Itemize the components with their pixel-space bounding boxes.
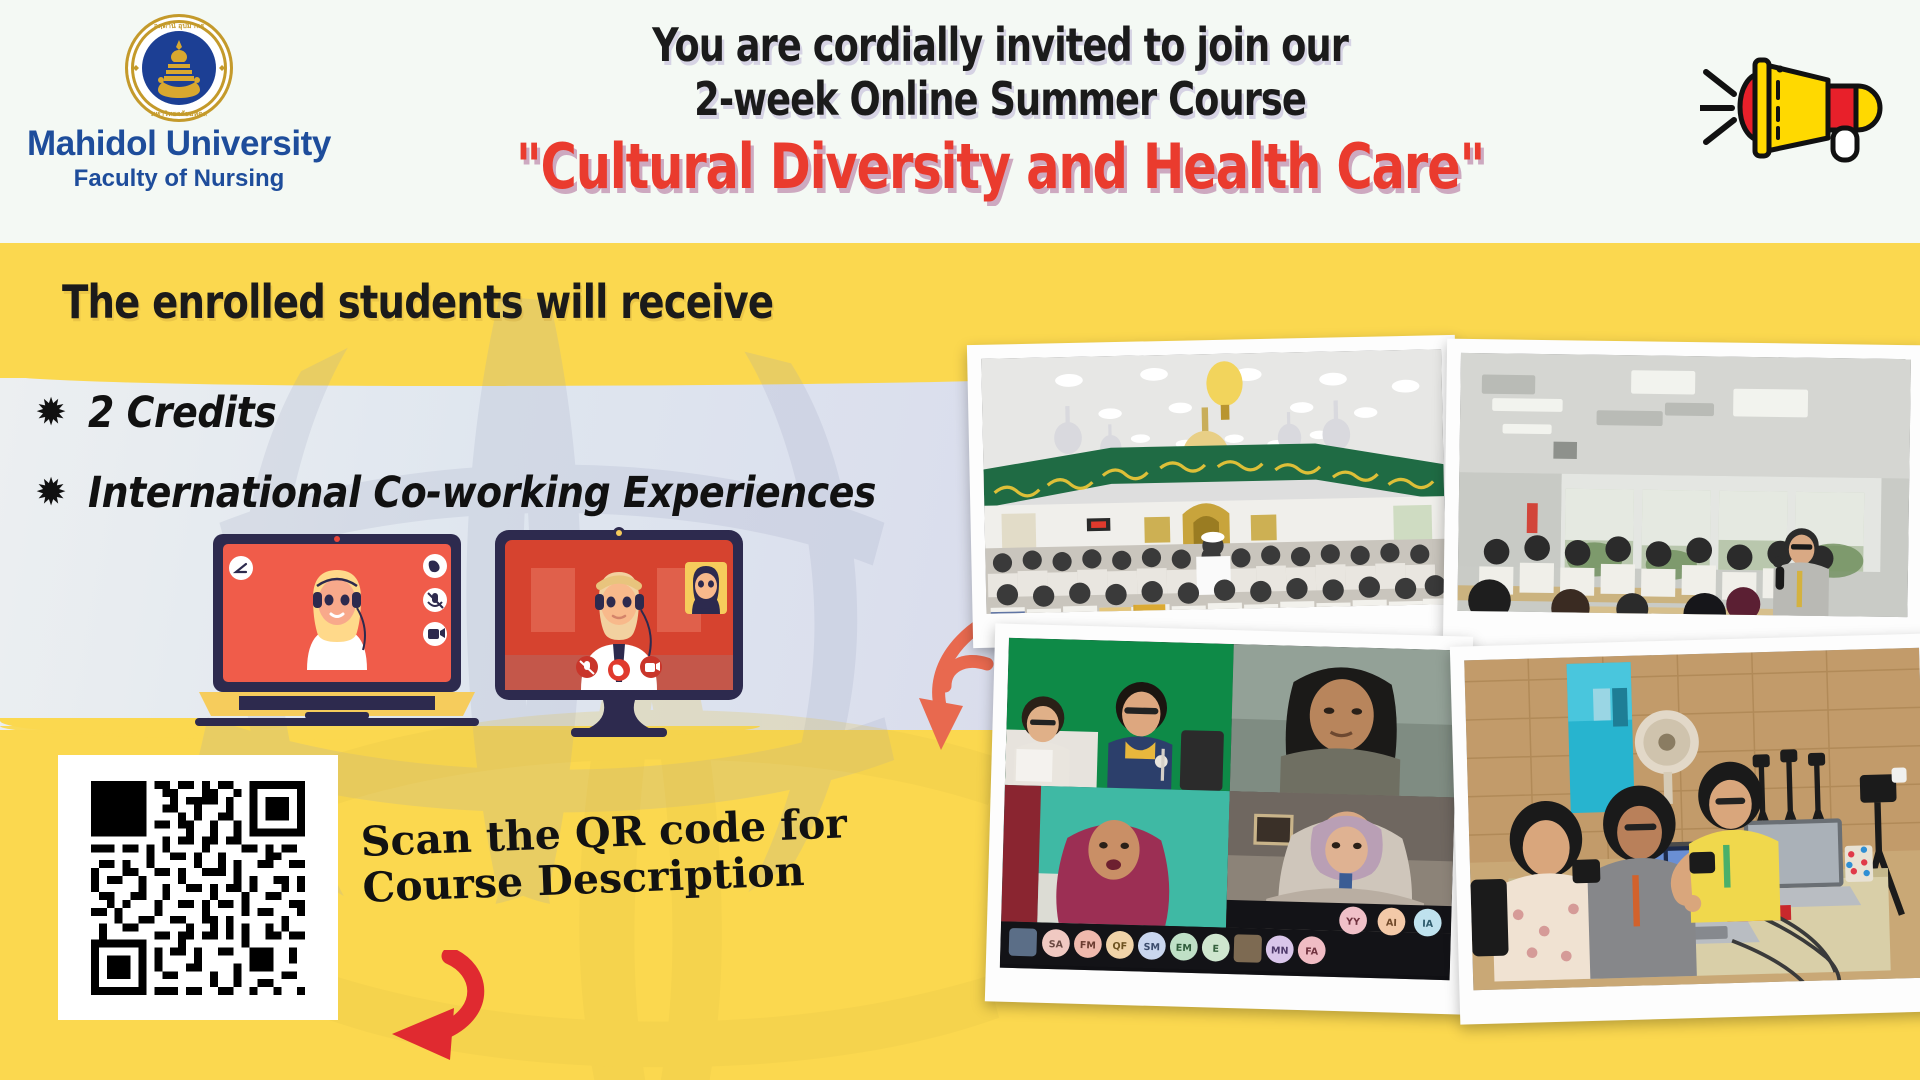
photo-collage: SA FM QF SM EM E MN FA YY AI IA bbox=[965, 330, 1920, 1080]
benefit-label-coworking: International Co-working Experiences bbox=[88, 468, 876, 518]
svg-text:MN: MN bbox=[1271, 945, 1289, 956]
star-bullet-icon-2: ✹ bbox=[30, 474, 72, 512]
laptop-video-call-icon bbox=[195, 534, 479, 726]
svg-text:FA: FA bbox=[1305, 946, 1319, 957]
photo-classroom-seminar bbox=[1443, 339, 1920, 654]
mahidol-logo: อตฺตานํ อุปมํ กเร มหาวิทยาลัยมหิดล Mahid… bbox=[14, 8, 344, 223]
svg-text:SM: SM bbox=[1143, 942, 1160, 953]
benefit-item-credits: ✹ 2 Credits bbox=[30, 388, 990, 438]
benefit-label-credits: 2 Credits bbox=[88, 388, 276, 438]
benefits-heading: The enrolled students will receive bbox=[62, 275, 773, 329]
megaphone-icon bbox=[1700, 42, 1890, 172]
course-title: "Cultural Diversity and Health Care" bbox=[488, 133, 1512, 201]
svg-text:EM: EM bbox=[1176, 943, 1192, 954]
invitation-line-2: 2-week Online Summer Course bbox=[488, 72, 1512, 126]
course-description-qr-code[interactable] bbox=[58, 755, 338, 1020]
photo-zoom-meeting: SA FM QF SM EM E MN FA YY AI IA bbox=[985, 623, 1473, 1014]
poster-canvas: อตฺตานํ อุปมํ กเร มหาวิทยาลัยมหิดล Mahid… bbox=[0, 0, 1920, 1080]
svg-text:SA: SA bbox=[1049, 939, 1064, 950]
svg-text:YY: YY bbox=[1345, 917, 1361, 928]
svg-text:มหาวิทยาลัยมหิดล: มหาวิทยาลัยมหิดล bbox=[151, 110, 207, 118]
header-text-block: You are cordially invited to join our 2-… bbox=[360, 18, 1640, 201]
qr-code-matrix bbox=[80, 773, 316, 1003]
svg-text:อตฺตานํ อุปมํ กเร: อตฺตานํ อุปมํ กเร bbox=[154, 22, 205, 30]
logo-university-name: Mahidol University bbox=[14, 126, 344, 162]
svg-text:IA: IA bbox=[1422, 919, 1434, 930]
star-bullet-icon: ✹ bbox=[30, 394, 72, 432]
desktop-video-call-icon bbox=[495, 527, 743, 737]
svg-text:FM: FM bbox=[1080, 940, 1096, 951]
photo-broadcast-desk bbox=[1450, 633, 1920, 1024]
svg-text:E: E bbox=[1212, 944, 1219, 955]
invitation-line-1: You are cordially invited to join our bbox=[488, 18, 1512, 72]
logo-faculty-name: Faculty of Nursing bbox=[14, 165, 344, 193]
curved-arrow-left-icon bbox=[390, 950, 590, 1060]
benefit-item-coworking: ✹ International Co-working Experiences bbox=[30, 468, 990, 518]
photo-mosque-group bbox=[967, 335, 1461, 648]
svg-text:AI: AI bbox=[1386, 918, 1397, 929]
video-call-illustration bbox=[195, 520, 755, 740]
svg-text:QF: QF bbox=[1112, 941, 1127, 952]
mahidol-seal-icon: อตฺตานํ อุปมํ กเร มหาวิทยาลัยมหิดล bbox=[125, 14, 233, 122]
